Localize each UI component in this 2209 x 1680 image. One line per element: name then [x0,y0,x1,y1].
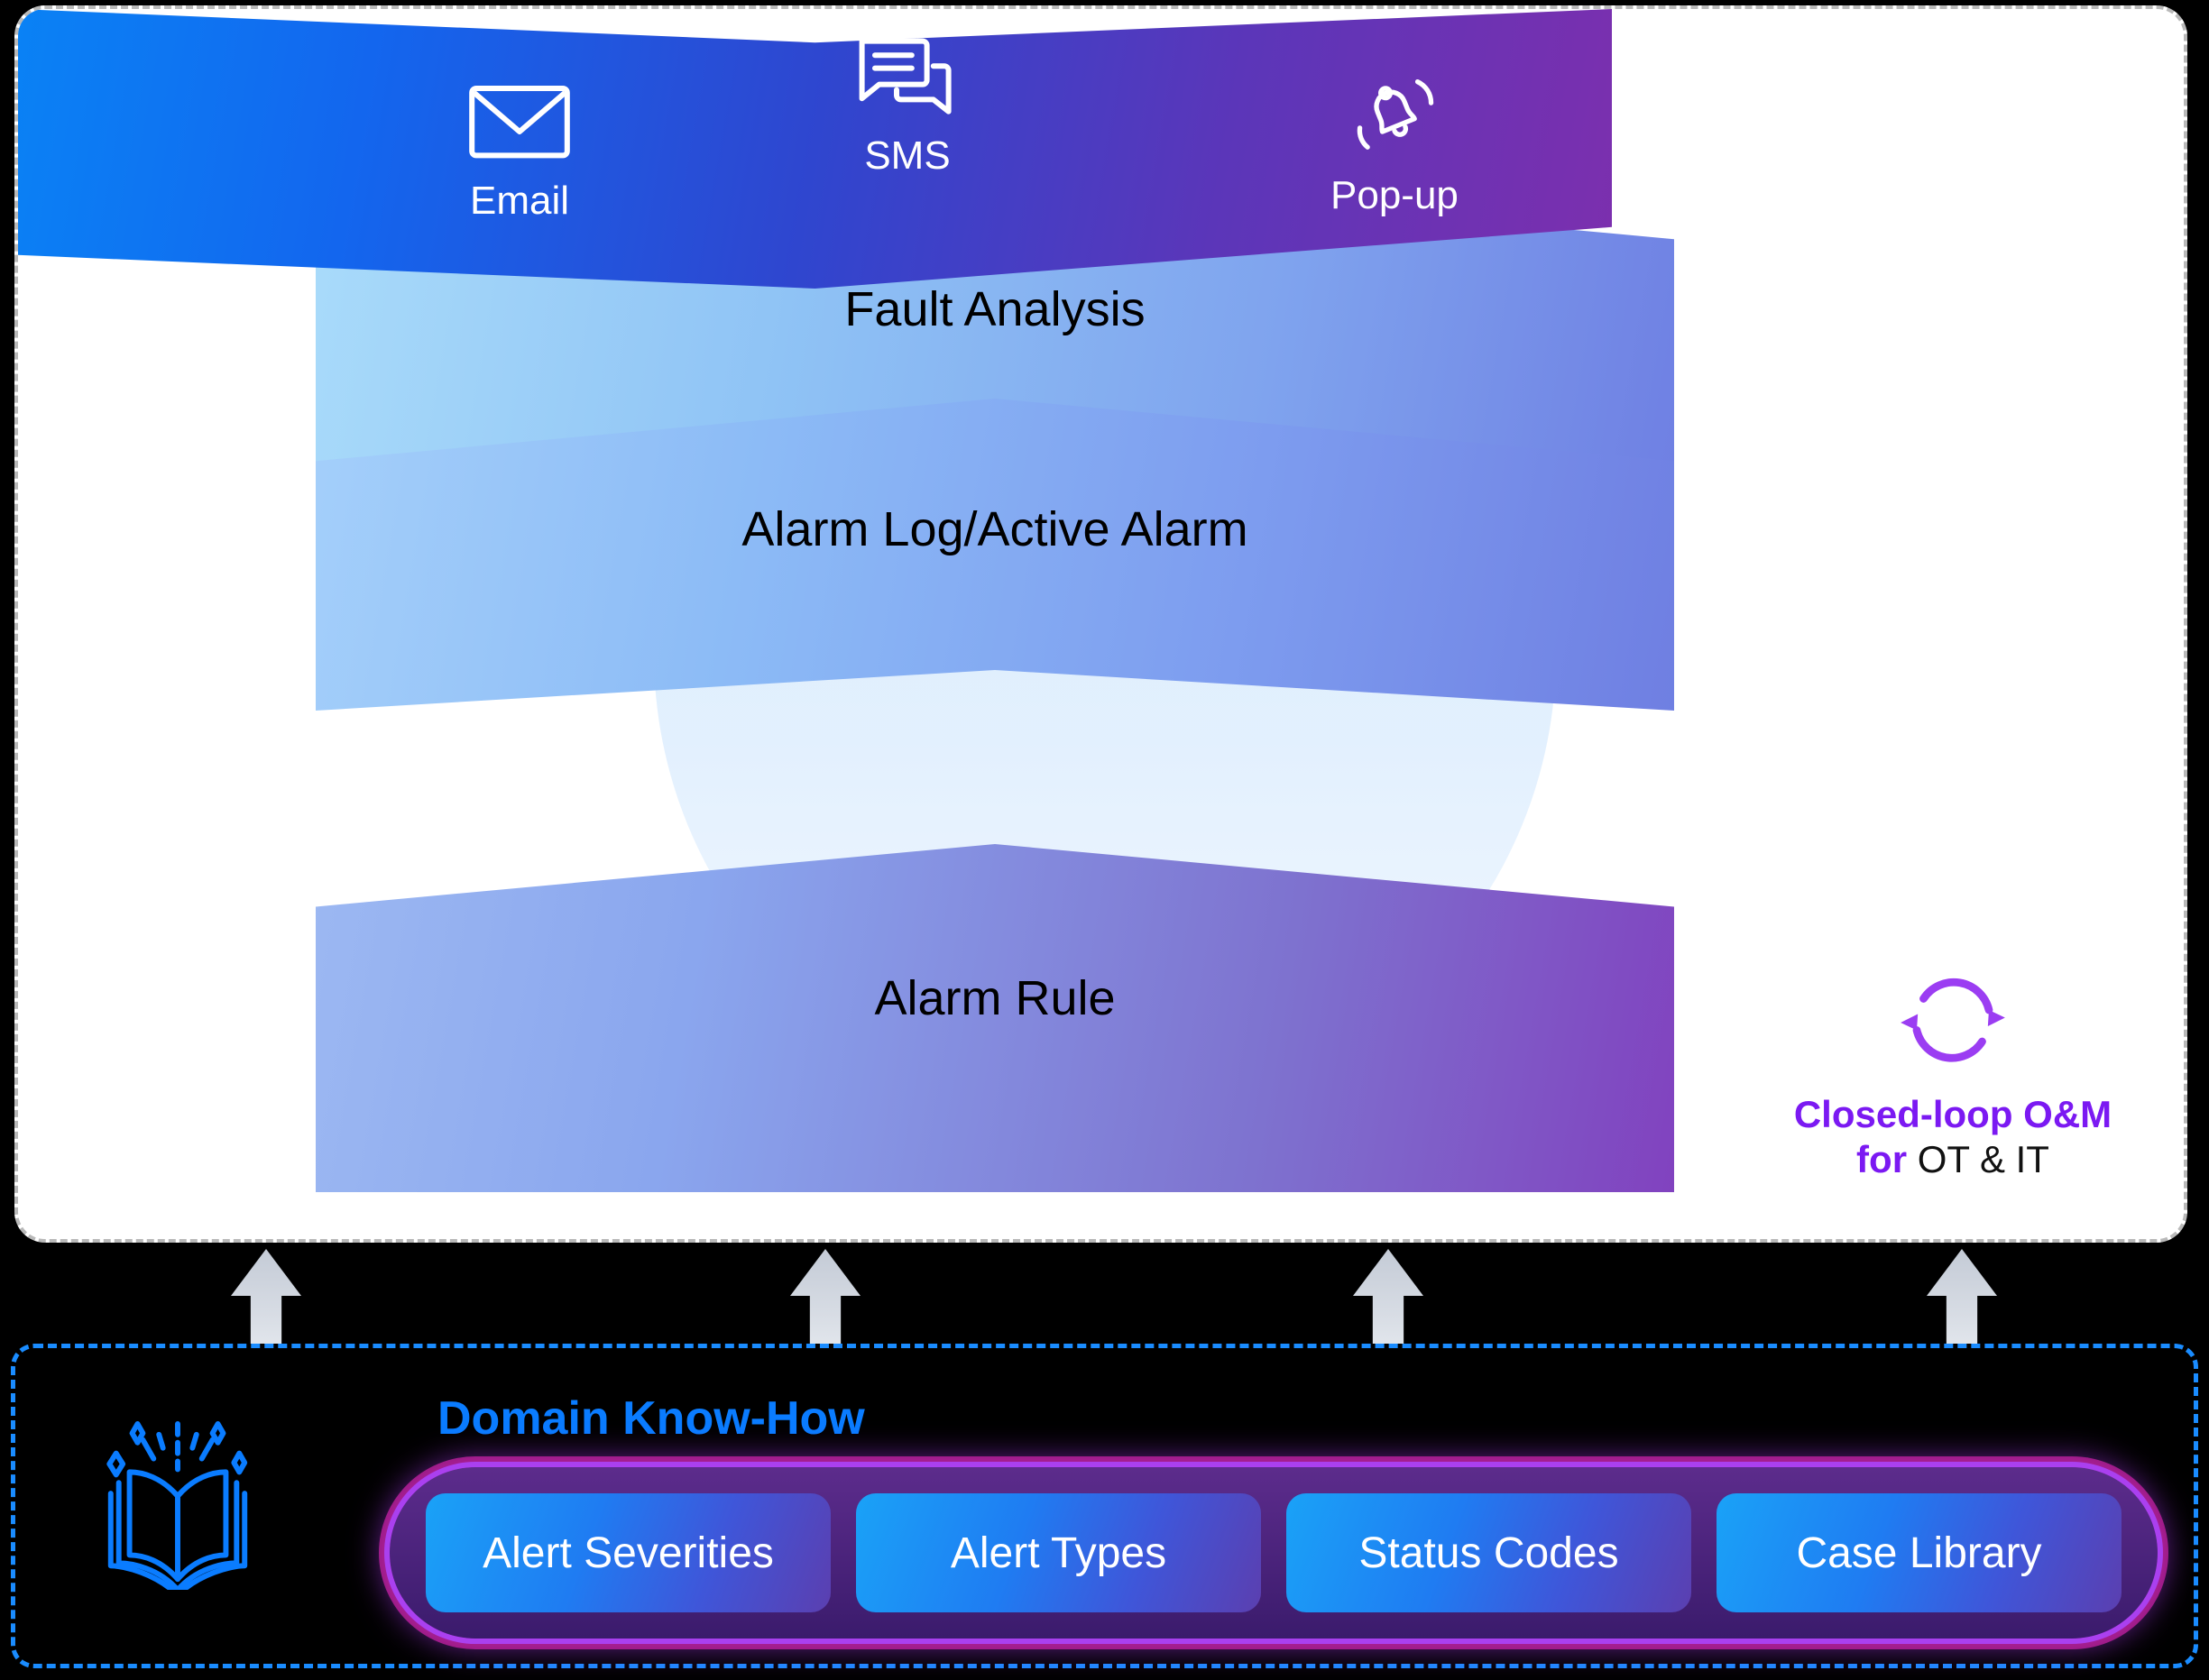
channel-sms[interactable]: SMS [852,32,962,179]
channel-label: SMS [864,133,950,179]
closed-loop-accent: for [1856,1138,1918,1180]
closed-loop-line1: Closed-loop O&M [1794,1093,2112,1135]
channel-popup[interactable]: Pop-up [1330,72,1459,218]
know-how-pill-strip: Alert Severities Alert Types Status Code… [390,1467,2158,1639]
chat-bubbles-icon [852,32,962,119]
closed-loop-plain: OT & IT [1918,1138,2049,1180]
pill-alert-severities[interactable]: Alert Severities [426,1493,831,1612]
pill-case-library[interactable]: Case Library [1717,1493,2122,1612]
channel-label: Email [470,179,569,224]
open-book-icon [97,1418,259,1590]
pill-label: Alert Types [951,1529,1166,1578]
closed-loop-block: Closed-loop O&M for OT & IT [1759,965,2147,1181]
envelope-icon [465,78,575,164]
pill-label: Status Codes [1358,1529,1618,1578]
know-how-title: Domain Know-How [437,1391,865,1446]
ringing-bell-icon [1339,72,1450,159]
layer-label: Fault Analysis [844,281,1145,337]
layer-label: Alarm Log/Active Alarm [741,501,1247,557]
closed-loop-caption: Closed-loop O&M for OT & IT [1759,1092,2147,1181]
pill-status-codes[interactable]: Status Codes [1286,1493,1691,1612]
layer-alarm-rule[interactable]: Alarm Rule [316,844,1674,1192]
channel-label: Pop-up [1330,173,1459,218]
refresh-cycle-icon [1894,965,2011,1073]
pill-label: Case Library [1796,1529,2041,1578]
layer-alarm-log[interactable]: Alarm Log/Active Alarm [316,399,1674,711]
pill-alert-types[interactable]: Alert Types [856,1493,1261,1612]
domain-know-how-panel: Domain Know-How Alert Severities Alert T… [11,1344,2198,1668]
alarm-management-card: OT & IT Alarm Management Fault Analysis … [14,5,2187,1243]
layer-label: Alarm Rule [874,970,1115,1026]
pill-label: Alert Severities [483,1529,774,1578]
channel-email[interactable]: Email [465,78,575,224]
